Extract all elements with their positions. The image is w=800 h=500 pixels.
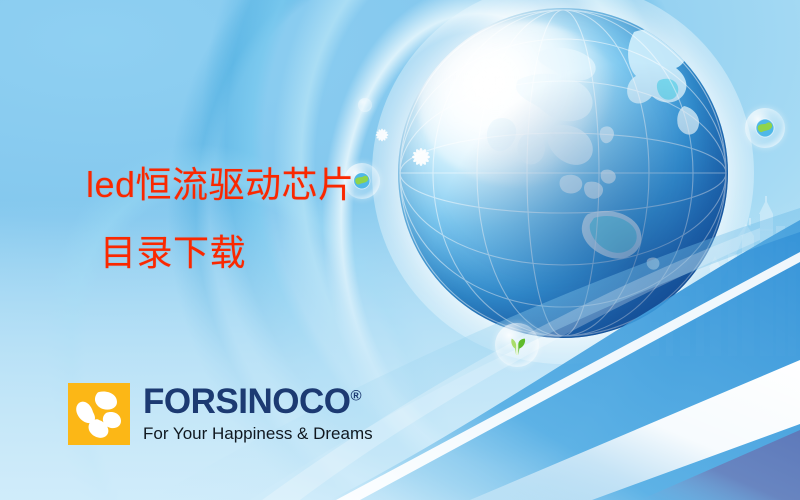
headline-cjk: 恒流驱动芯片 [136, 165, 355, 206]
mini-globe-icon [753, 116, 777, 140]
logo-wordmark: FORSINOCO® For Your Happiness & Dreams [143, 383, 373, 442]
logo-tagline: For Your Happiness & Dreams [143, 425, 373, 442]
logo-name-text: FORSINOCO [143, 382, 350, 421]
headline-line-2: 目录下载 [100, 235, 355, 273]
bubble-tiny [358, 98, 372, 112]
pinwheel-petals-icon [68, 383, 130, 445]
logo-company-name: FORSINOCO® [143, 384, 373, 419]
green-leaves-icon [504, 332, 530, 358]
headline-latin: led [86, 164, 136, 205]
brand-logo: FORSINOCO® For Your Happiness & Dreams [68, 383, 373, 445]
forsinoco-pinwheel-mark-icon [68, 383, 130, 445]
registered-trademark-icon: ® [350, 387, 361, 404]
starburst-large-icon [404, 140, 438, 174]
bubble-globe-corner [745, 108, 785, 148]
bubble-leaf [495, 323, 539, 367]
starburst-small-icon [370, 123, 394, 147]
headline-text: led恒流驱动芯片 目录下载 [86, 166, 355, 273]
promo-banner: led恒流驱动芯片 目录下载 FORSINOCO® For Your Happi… [0, 0, 800, 500]
headline-line-1: led恒流驱动芯片 [86, 166, 355, 205]
